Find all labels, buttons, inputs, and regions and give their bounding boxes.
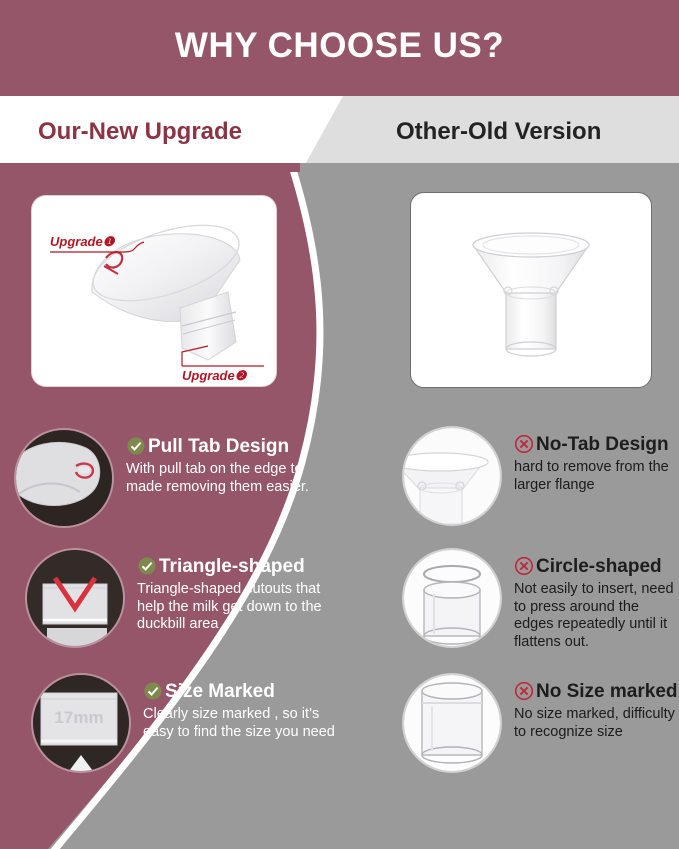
- right-feature-row-2: Circle-shaped Not easily to insert, need…: [404, 550, 679, 652]
- right-feature-2-heading: Circle-shaped: [536, 557, 662, 576]
- comparison-infographic: WHY CHOOSE US? Our-New Upgrade Other-Old…: [0, 0, 679, 849]
- left-feature-2-heading-row: Triangle-shaped: [137, 556, 333, 576]
- hero-callout-1-label: Upgrade❶: [50, 234, 116, 249]
- left-feature-row-2: Triangle-shaped Triangle-shaped cutouts …: [27, 550, 333, 646]
- green-check-icon: [143, 681, 163, 701]
- left-feature-3-text: Size Marked Clearly size marked , so it’…: [143, 675, 339, 741]
- page-title: WHY CHOOSE US?: [0, 26, 679, 66]
- left-feature-1-heading: Pull Tab Design: [148, 437, 289, 456]
- left-column-title: Our-New Upgrade: [38, 118, 242, 146]
- old-product-hero-card: [410, 192, 652, 388]
- no-tab-flange-photo: [404, 428, 500, 524]
- left-feature-1-heading-row: Pull Tab Design: [126, 436, 322, 456]
- right-feature-3-heading-row: No Size marked: [514, 681, 679, 701]
- triangle-cutout-closeup-photo: [27, 550, 123, 646]
- pull-tab-closeup-photo: [16, 430, 112, 526]
- right-feature-row-1: No-Tab Design hard to remove from the la…: [404, 428, 679, 524]
- left-header-underline: [0, 163, 300, 172]
- right-feature-3-text: No Size marked No size marked, difficult…: [514, 675, 679, 741]
- right-feature-1-text: No-Tab Design hard to remove from the la…: [514, 428, 679, 494]
- left-feature-2-text: Triangle-shaped Triangle-shaped cutouts …: [137, 550, 333, 634]
- size-marking-closeup-photo: 17mm: [33, 675, 129, 771]
- red-x-icon: [514, 434, 534, 454]
- circle-shaped-insert-photo: [404, 550, 500, 646]
- left-feature-row-1: Pull Tab Design With pull tab on the edg…: [16, 430, 322, 526]
- right-feature-3-heading: No Size marked: [536, 682, 678, 701]
- right-feature-1-heading: No-Tab Design: [536, 435, 669, 454]
- left-feature-3-heading-row: Size Marked: [143, 681, 339, 701]
- title-banner: WHY CHOOSE US?: [0, 0, 679, 96]
- left-feature-2-body: Triangle-shaped cutouts that help the mi…: [137, 581, 333, 634]
- right-feature-1-body: hard to remove from the larger flange: [514, 459, 679, 494]
- unmarked-insert-photo: [404, 675, 500, 771]
- new-upgraded-flange-photo: Upgrade❶ Upgrade❷: [32, 196, 276, 386]
- new-product-hero-card: Upgrade❶ Upgrade❷: [32, 196, 276, 386]
- red-x-icon: [514, 681, 534, 701]
- right-feature-1-heading-row: No-Tab Design: [514, 434, 679, 454]
- right-feature-row-3: No Size marked No size marked, difficult…: [404, 675, 679, 771]
- left-feature-3-body: Clearly size marked , so it’s easy to fi…: [143, 706, 339, 741]
- red-x-icon: [514, 556, 534, 576]
- left-feature-row-3: 17mm Size Marked Clearly size marked , s…: [33, 675, 339, 771]
- right-feature-2-heading-row: Circle-shaped: [514, 556, 679, 576]
- left-feature-1-text: Pull Tab Design With pull tab on the edg…: [126, 430, 322, 496]
- right-feature-2-body: Not easily to insert, need to press arou…: [514, 581, 679, 652]
- hero-callout-2-label: Upgrade❷: [182, 368, 248, 383]
- size-label: 17mm: [54, 708, 103, 727]
- green-check-icon: [126, 436, 146, 456]
- right-header-underline: [300, 163, 679, 172]
- old-version-flange-photo: [411, 193, 651, 387]
- right-feature-3-body: No size marked, difficulty to recognize …: [514, 706, 679, 741]
- column-header-row: Our-New Upgrade Other-Old Version: [0, 96, 679, 170]
- left-feature-1-body: With pull tab on the edge to made removi…: [126, 461, 322, 496]
- green-check-icon: [137, 556, 157, 576]
- left-feature-2-heading: Triangle-shaped: [159, 557, 305, 576]
- right-feature-2-text: Circle-shaped Not easily to insert, need…: [514, 550, 679, 652]
- right-column-title: Other-Old Version: [396, 118, 601, 146]
- left-feature-3-heading: Size Marked: [165, 682, 275, 701]
